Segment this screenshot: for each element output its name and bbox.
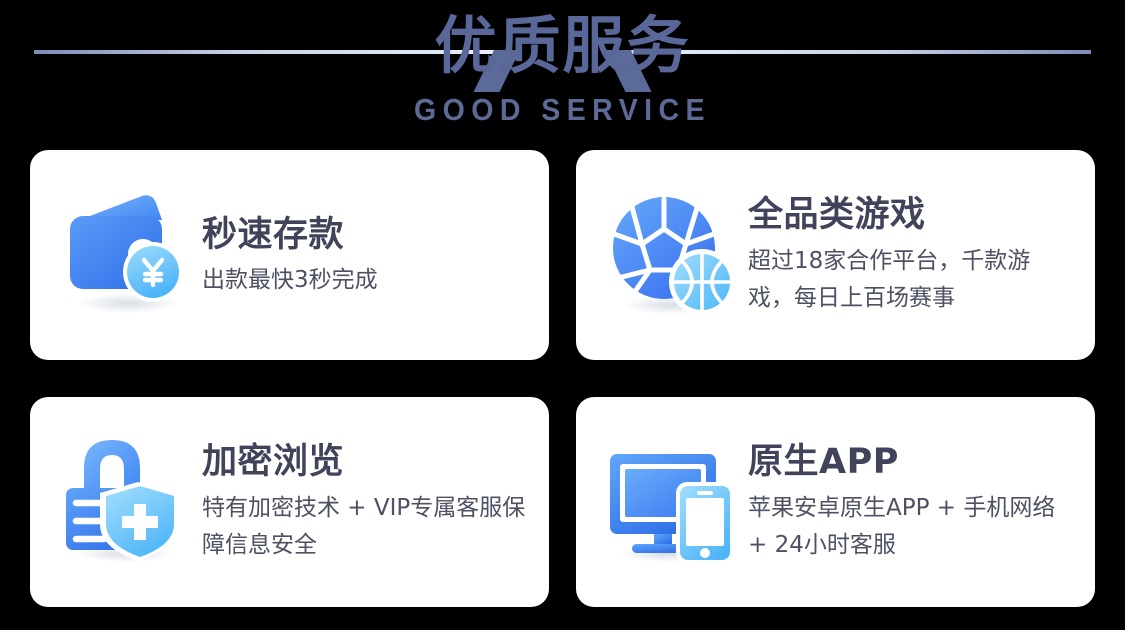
service-card-description: 超过18家合作平台，千款游戏，每日上百场赛事 [748,243,1073,317]
page-subtitle: GOOD SERVICE [45,92,1080,128]
devices-icon [602,432,742,572]
service-card-title: 原生APP [748,440,1073,484]
service-card-text: 加密浏览 特有加密技术 + VIP专属客服保障信息安全 [196,440,527,564]
service-card-text: 全品类游戏 超过18家合作平台，千款游戏，每日上百场赛事 [742,193,1073,317]
service-card-title: 加密浏览 [202,440,527,484]
service-card-description: 苹果安卓原生APP + 手机网络 + 24小时客服 [748,490,1073,564]
service-card-text: 原生APP 苹果安卓原生APP + 手机网络 + 24小时客服 [742,440,1073,564]
service-card-text: 秒速存款 出款最快3秒完成 [196,213,527,298]
service-card[interactable]: 原生APP 苹果安卓原生APP + 手机网络 + 24小时客服 [576,397,1095,607]
service-card[interactable]: 秒速存款 出款最快3秒完成 [30,150,549,360]
page-title: 优质服务 [0,0,1125,92]
service-card-description: 特有加密技术 + VIP专属客服保障信息安全 [202,490,527,564]
service-card[interactable]: 全品类游戏 超过18家合作平台，千款游戏，每日上百场赛事 [576,150,1095,360]
service-card-title: 全品类游戏 [748,193,1073,237]
service-card[interactable]: 加密浏览 特有加密技术 + VIP专属客服保障信息安全 [30,397,549,607]
secure-lock-icon [56,432,196,572]
header-title-block: 优质服务 GOOD SERVICE [0,0,1125,128]
service-card-grid: 秒速存款 出款最快3秒完成 [30,150,1095,607]
service-card-description: 出款最快3秒完成 [202,263,527,298]
wallet-icon [56,185,196,325]
page-header: 优质服务 GOOD SERVICE [0,0,1125,145]
sports-ball-icon [602,185,742,325]
service-card-title: 秒速存款 [202,213,527,257]
